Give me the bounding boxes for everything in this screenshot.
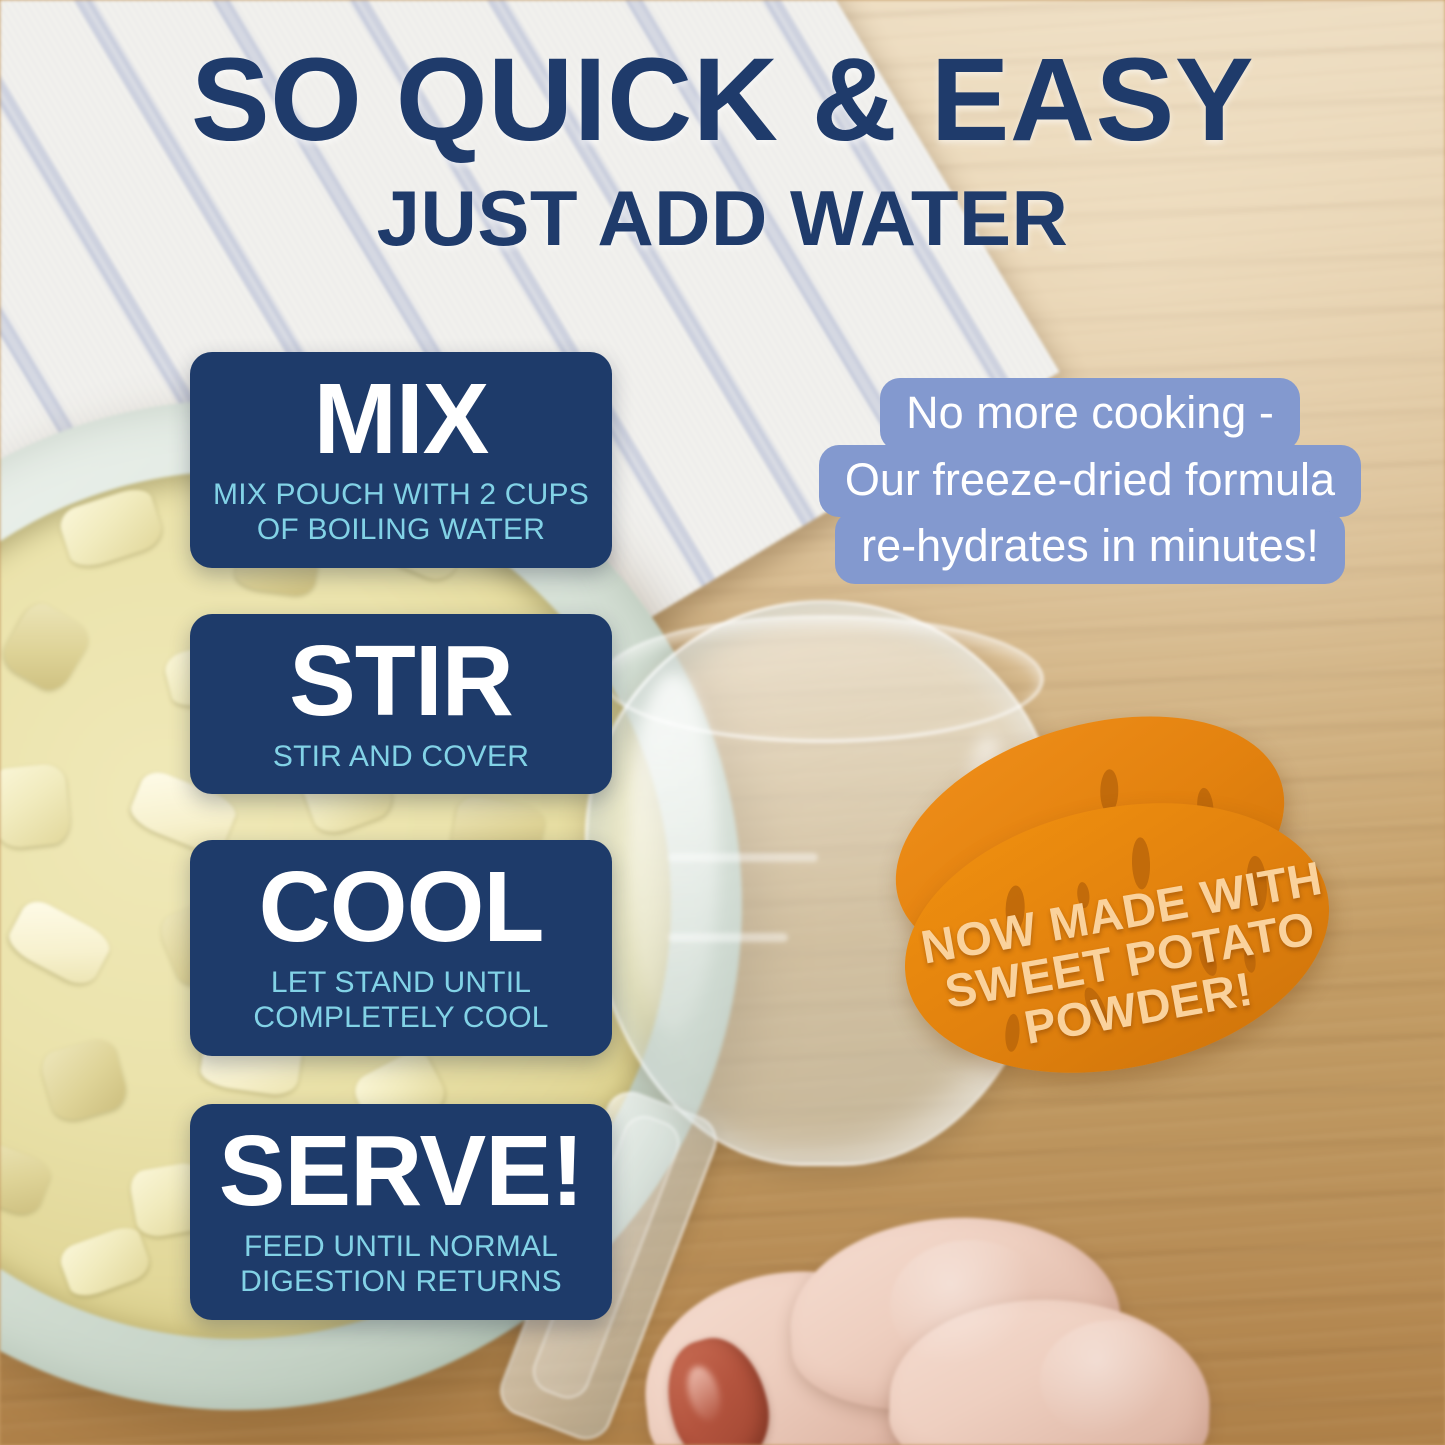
step-title: COOL [208,856,594,958]
callout-box: No more cooking - Our freeze-dried formu… [770,378,1410,584]
step-subtitle-line2: DIGESTION RETURNS [240,1265,562,1298]
step-subtitle: LET STAND UNTIL COMPLETELY COOL [208,966,594,1036]
step-title: STIR [208,630,594,732]
step-card-mix: MIX MIX POUCH WITH 2 CUPS OF BOILING WAT… [190,352,612,568]
cup-measure-line [668,853,818,862]
cup-measure-line [668,933,788,942]
step-subtitle-line2: COMPLETELY COOL [253,1001,548,1034]
step-subtitle: FEED UNTIL NORMAL DIGESTION RETURNS [208,1230,594,1300]
step-title: MIX [208,368,594,470]
step-subtitle-line1: FEED UNTIL NORMAL [244,1230,558,1263]
step-subtitle-line1: MIX POUCH WITH 2 CUPS [213,478,589,511]
sweet-potato-badge: NOW MADE WITH SWEET POTATO POWDER! [880,720,1380,1120]
step-subtitle-line1: LET STAND UNTIL [271,966,531,999]
step-card-stir: STIR STIR AND COVER [190,614,612,795]
step-subtitle-line2: OF BOILING WATER [257,513,545,546]
callout-line-1: No more cooking - [880,378,1300,451]
step-subtitle-line1: STIR AND COVER [273,740,529,773]
step-subtitle: MIX POUCH WITH 2 CUPS OF BOILING WATER [208,478,594,548]
step-card-serve: SERVE! FEED UNTIL NORMAL DIGESTION RETUR… [190,1104,612,1320]
steps-list: MIX MIX POUCH WITH 2 CUPS OF BOILING WAT… [190,352,612,1320]
callout-line-3: re-hydrates in minutes! [835,511,1345,584]
step-subtitle: STIR AND COVER [208,740,594,775]
nail-highlight [682,1362,726,1424]
promo-graphic: SO QUICK & EASY JUST ADD WATER MIX MIX P… [0,0,1445,1445]
step-title: SERVE! [208,1120,594,1222]
hand [640,1180,1200,1445]
callout-line-2: Our freeze-dried formula [819,445,1361,518]
step-card-cool: COOL LET STAND UNTIL COMPLETELY COOL [190,840,612,1056]
